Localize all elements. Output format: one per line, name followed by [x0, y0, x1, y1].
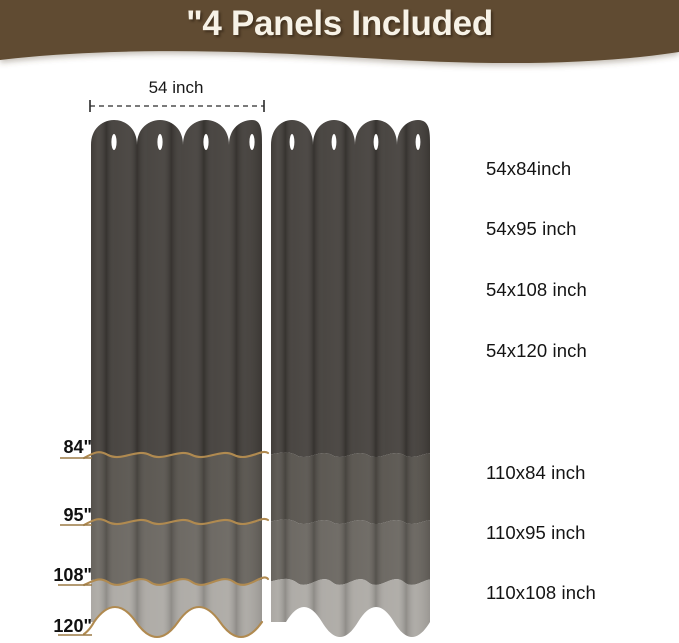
tier-leader-lines [58, 458, 92, 635]
size-label-110x95: 110x95 inch [486, 522, 586, 544]
left-curtain-panel [80, 110, 280, 643]
tier-wave-lines [84, 452, 268, 637]
tier-wave-95 [84, 519, 268, 525]
size-label-54x120: 54x120 inch [486, 340, 587, 362]
size-label-110x84: 110x84 inch [486, 462, 586, 484]
right-curtain-panel [265, 110, 445, 643]
width-dimension-line [88, 99, 266, 113]
size-label-54x84: 54x84inch [486, 158, 571, 180]
tier-wave-120 [84, 607, 262, 637]
tier-tick-120: 120" [30, 616, 92, 637]
tier-tick-108: 108" [30, 565, 92, 586]
size-label-54x108: 54x108 inch [486, 279, 587, 301]
width-dimension-label: 54 inch [90, 78, 262, 98]
size-label-110x108: 110x108 inch [486, 582, 596, 604]
size-label-54x95: 54x95 inch [486, 218, 576, 240]
tier-wave-84 [84, 452, 268, 458]
left-panel-grommets [111, 134, 254, 150]
tier-tick-84: 84" [44, 437, 92, 458]
page-title: "4 Panels Included [0, 2, 679, 46]
tier-wave-108 [84, 577, 268, 585]
tier-tick-95: 95" [44, 505, 92, 526]
right-panel-grommets [290, 134, 421, 150]
header-banner: "4 Panels Included [0, 0, 679, 78]
